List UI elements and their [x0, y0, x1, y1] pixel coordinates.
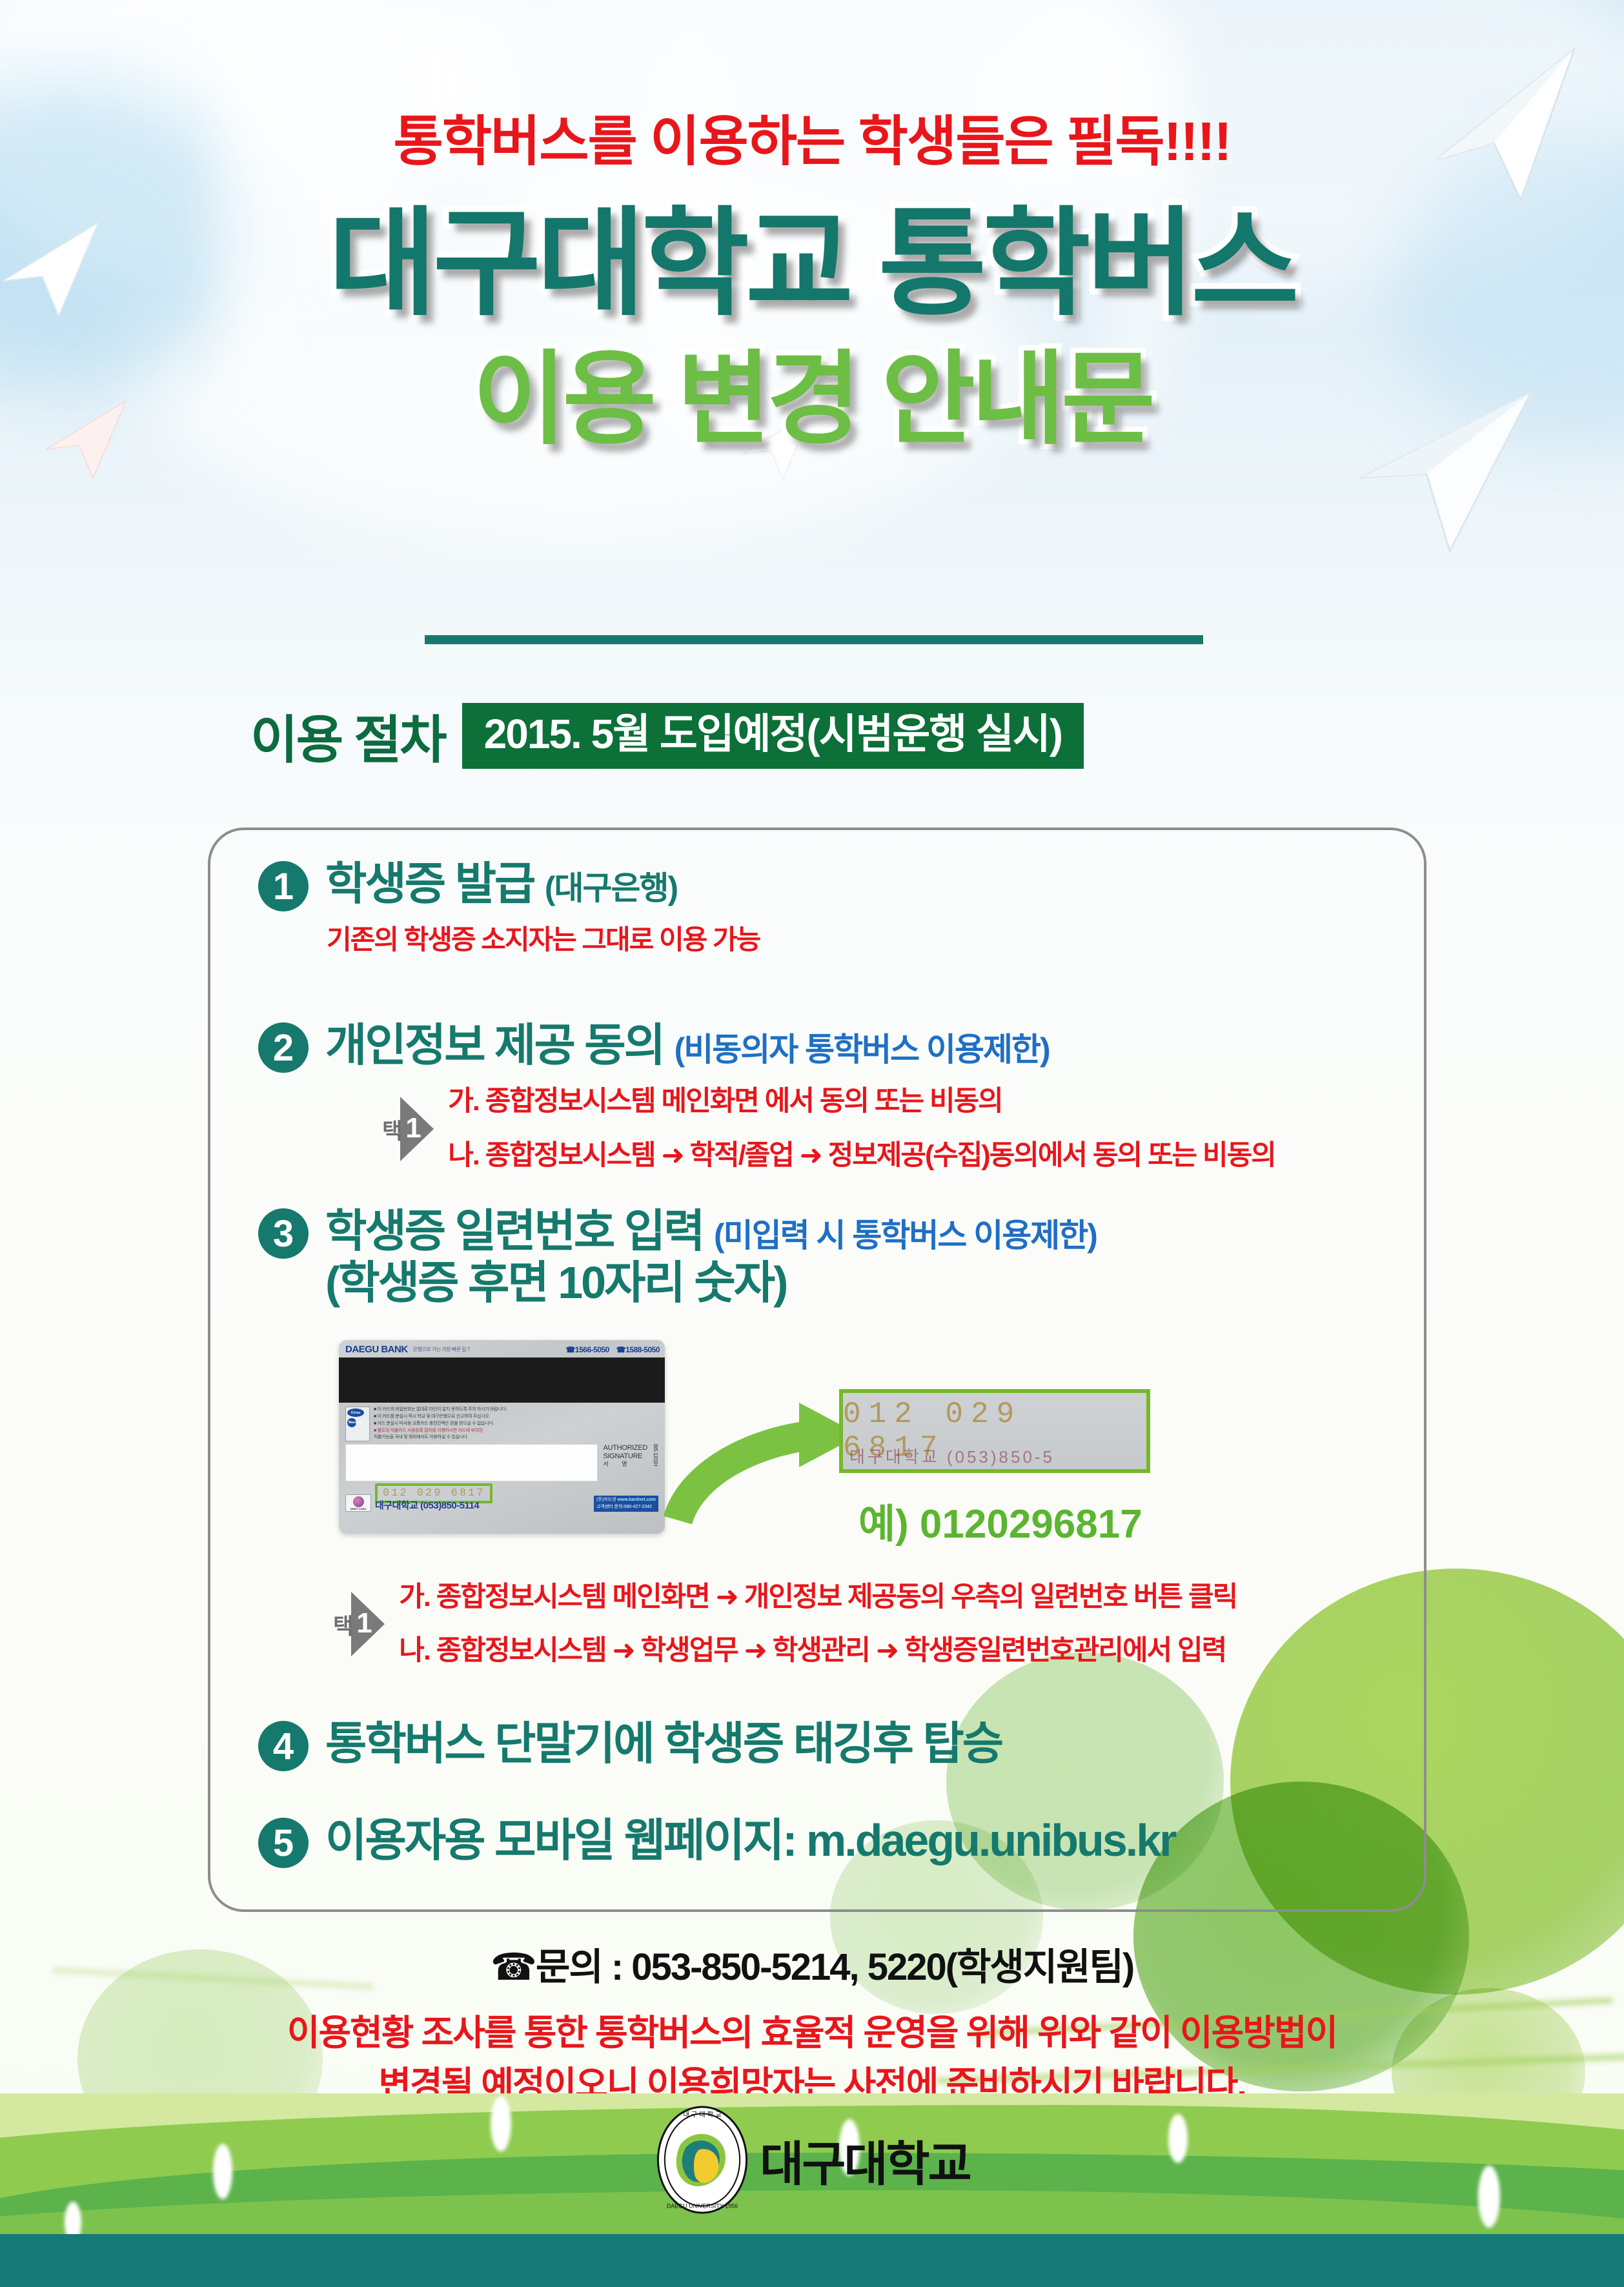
card-term-2: ■ 이 카드를 분실시 즉시 학교 및 대구은행으로 신고하여 주십시오. [374, 1414, 507, 1421]
card-header: DAEGU BANK 은행으로 가는 가장 빠른 길 ? ☎1566-5050 … [339, 1340, 665, 1356]
step-2-pick-count: 1 [405, 1112, 421, 1144]
step-1-subnote: 기존의 학생증 소지자는 그대로 이용 가능 [327, 918, 760, 957]
debit-dot-icon [353, 1496, 364, 1507]
step-1-title: 학생증 발급 (대구은행) [325, 859, 760, 909]
card-slogan: 은행으로 가는 가장 빠른 길 ? [413, 1346, 470, 1353]
emblem-bottom-text: DAEGU UNIVERSITY 1956 [667, 2203, 738, 2210]
step-2-number: 2 [258, 1022, 309, 1073]
debit-card-label: DEBIT CARD [347, 1507, 370, 1510]
step-4-title: 통학버스 단말기에 학생증 태깅후 탑승 [325, 1718, 1002, 1769]
green-arrow-icon [652, 1346, 865, 1540]
title-line-2: 이용 변경 안내문 [0, 344, 1624, 456]
card-tel-1: ☎1566-5050 [565, 1345, 609, 1354]
step-2-option-a: 가. 종합정보시스템 메인화면 에서 동의 또는 비동의 [448, 1087, 1275, 1116]
serial-zoom-ghost-text: 대구대학교 (053)850-5 [849, 1444, 1055, 1468]
card-bottom-row: DEBIT CARD 012 029 6817 대구대학교 (053)850-5… [339, 1481, 665, 1516]
step-3: 3 학생증 일련번호 입력 (미입력 시 통학버스 이용제한) (학생증 후면 … [258, 1206, 1097, 1308]
kardnet-block: (주)카드넷 www.kardnet.com 고객센터 문의:080-427-2… [594, 1496, 658, 1512]
title-line-1: 대구대학교 통학버스 [0, 200, 1624, 327]
footer-band: 대 구 대 학 교 DAEGU UNIVERSITY 1956 대구대학교 [0, 2093, 1624, 2287]
section-label: 이용 절차 [250, 698, 445, 773]
maestro-icon: Maestro [347, 1418, 364, 1427]
step-5: 5 이용자용 모바일 웹페이지: m.daegu.unibus.kr [258, 1815, 1175, 1868]
step-3-option-b: 나. 종합정보시스템 ➜ 학생업무 ➜ 학생관리 ➜ 학생증일련번호관리에서 입… [399, 1636, 1237, 1665]
step-2-options: 가. 종합정보시스템 메인화면 에서 동의 또는 비동의 나. 종합정보시스템 … [448, 1087, 1275, 1170]
step-4: 4 통학버스 단말기에 학생증 태깅후 탑승 [258, 1718, 1002, 1771]
card-magnetic-stripe [339, 1357, 665, 1403]
card-signature-strip [345, 1444, 598, 1481]
cirrus-icon: Cirrus [347, 1408, 364, 1417]
step-5-title: 이용자용 모바일 웹페이지: m.daegu.unibus.kr [325, 1815, 1175, 1865]
card-signature-korean: 서 명 [603, 1461, 647, 1467]
step-2-note: (비동의자 통학버스 이용제한) [675, 1032, 1050, 1068]
student-card-image: DAEGU BANK 은행으로 가는 가장 빠른 길 ? ☎1566-5050 … [339, 1340, 665, 1534]
step-3-pick-triangle: 1 [351, 1592, 385, 1656]
notice-line-1: 이용현황 조사를 통한 통학버스의 효율적 운영을 위해 위와 같이 이용방법이 [0, 2007, 1624, 2059]
card-signature-label-1: AUTHORIZED [603, 1444, 647, 1452]
university-emblem-icon: 대 구 대 학 교 DAEGU UNIVERSITY 1956 [654, 2105, 751, 2215]
kardnet-center: 고객센터 문의:080-427-2342 [596, 1504, 656, 1511]
step-3-title: 학생증 일련번호 입력 (미입력 시 통학버스 이용제한) [325, 1206, 1097, 1256]
poster-root: 통학버스를 이용하는 학생들은 필독!!!! 대구대학교 통학버스 이용 변경 … [0, 0, 1624, 2287]
step-4-number: 4 [258, 1721, 309, 1771]
step-3-choose-one: 택 1 가. 종합정보시스템 메인화면 ➜ 개인정보 제공동의 우측의 일련번호… [330, 1583, 1237, 1665]
step-1-note: (대구은행) [545, 870, 677, 906]
card-term-4: ■ 별도의 직불카드 사용등록 절차를 이행하시면 카드에 부여된 [374, 1428, 507, 1435]
university-name: 대구대학교 [760, 2126, 969, 2195]
step-2-option-b: 나. 종합정보시스템 ➜ 학적/졸업 ➜ 정보제공(수집)동의에서 동의 또는 … [448, 1141, 1275, 1170]
emblem-top-text: 대 구 대 학 교 [684, 2111, 722, 2119]
card-term-1: ■ 이 카드의 비밀번호는 절대로 타인이 알지 못하도록 주의 하시기 바랍니… [374, 1407, 507, 1414]
debit-card-icon: DEBIT CARD [345, 1494, 371, 1512]
kardnet-url: www.kardnet.com [617, 1498, 656, 1502]
card-signature-label: AUTHORIZED SIGNATURE 서 명 [603, 1444, 647, 1467]
step-2: 2 개인정보 제공 동의 (비동의자 통학버스 이용제한) 택 1 가. 종합정… [258, 1020, 1275, 1170]
footer-bottom-bar [0, 2234, 1624, 2287]
step-3-option-a: 가. 종합정보시스템 메인화면 ➜ 개인정보 제공동의 우측의 일련번호 버튼 … [399, 1583, 1237, 1612]
poster-title: 대구대학교 통학버스 이용 변경 안내문 [0, 200, 1624, 456]
serial-zoom-callout: 012 029 6817 대구대학교 (053)850-5 [839, 1389, 1150, 1473]
maestro-label: Maestro [349, 1421, 361, 1425]
card-telephones: ☎1566-5050 ☎1588-5050 [560, 1345, 660, 1354]
step-2-pick-label: 택 [380, 1119, 400, 1139]
step-3-options: 가. 종합정보시스템 메인화면 ➜ 개인정보 제공동의 우측의 일련번호 버튼 … [399, 1583, 1237, 1665]
card-terms: ■ 이 카드의 비밀번호는 절대로 타인이 알지 못하도록 주의 하시기 바랍니… [374, 1407, 507, 1441]
step-3-pick-count: 1 [356, 1607, 372, 1640]
step-2-title-text: 개인정보 제공 동의 [325, 1020, 664, 1070]
serial-example-text: 예) 0120296817 [858, 1491, 1142, 1549]
step-3-title-line2: (학생증 후면 10자리 숫자) [325, 1257, 1097, 1308]
step-3-number: 3 [258, 1208, 309, 1259]
poster-kicker: 통학버스를 이용하는 학생들은 필독!!!! [0, 98, 1624, 176]
step-3-title-text: 학생증 일련번호 입력 [325, 1206, 704, 1256]
step-2-pick-triangle: 1 [400, 1097, 434, 1161]
title-divider [425, 635, 1203, 644]
kardnet-name: (주)카드넷 [596, 1498, 616, 1502]
contact-line: ☎문의 : 053-850-5214, 5220(학생지원팀) [0, 1936, 1624, 1991]
step-1-title-text: 학생증 발급 [325, 859, 534, 909]
card-signature-label-2: SIGNATURE [603, 1452, 647, 1461]
card-term-3: ■ 카드 분실시 미사용 교통카드 충전잔액은 환불 받으실 수 없습니다. [374, 1421, 507, 1428]
card-term-5: 직불기능을 국내 및 해외에서도 이용하실 수 있습니다. [374, 1434, 507, 1441]
card-network-logos: Cirrus Maestro [345, 1407, 370, 1441]
step-1: 1 학생증 발급 (대구은행) 기존의 학생증 소지자는 그대로 이용 가능 [258, 859, 760, 957]
step-2-title: 개인정보 제공 동의 (비동의자 통학버스 이용제한) [325, 1020, 1275, 1070]
step-3-note: (미입력 시 통학버스 이용제한) [714, 1217, 1097, 1254]
step-2-choose-one: 택 1 가. 종합정보시스템 메인화면 에서 동의 또는 비동의 나. 종합정보… [380, 1087, 1275, 1170]
card-middle: Cirrus Maestro ■ 이 카드의 비밀번호는 절대로 타인이 알지 … [339, 1407, 665, 1441]
section-badge: 2015. 5월 도입예정(시범운행 실시) [462, 703, 1084, 769]
card-signature-row: AUTHORIZED SIGNATURE 서 명 BIS 1201H [339, 1441, 665, 1481]
step-1-number: 1 [258, 861, 309, 911]
card-bank-name: DAEGU BANK [345, 1344, 408, 1355]
section-header: 이용 절차 2015. 5월 도입예정(시범운행 실시) [250, 698, 1084, 773]
university-logo: 대 구 대 학 교 DAEGU UNIVERSITY 1956 대구대학교 [0, 2105, 1624, 2215]
step-5-number: 5 [258, 1818, 309, 1868]
step-3-pick-label: 택 [330, 1614, 351, 1634]
